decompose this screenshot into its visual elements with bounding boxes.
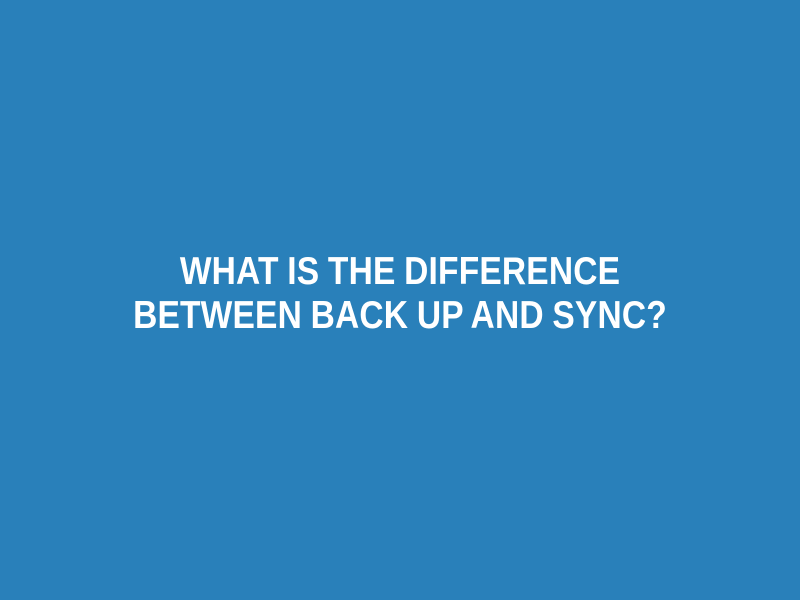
- hero-banner: WHAT IS THE DIFFERENCE BETWEEN BACK UP A…: [0, 0, 800, 600]
- title-block: WHAT IS THE DIFFERENCE BETWEEN BACK UP A…: [44, 250, 756, 338]
- page-title: WHAT IS THE DIFFERENCE BETWEEN BACK UP A…: [94, 250, 706, 338]
